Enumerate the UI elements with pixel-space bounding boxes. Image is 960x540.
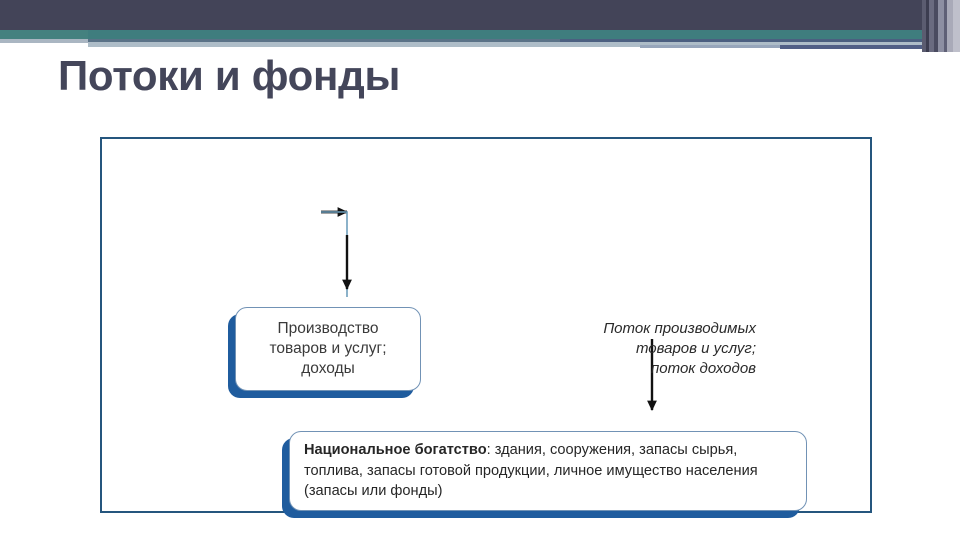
slide-header-decoration (0, 0, 960, 60)
page-title: Потоки и фонды (58, 52, 400, 100)
diagram-box-national-wealth-label: Национальное богатство: здания, сооружен… (289, 431, 807, 511)
slide-canvas: Потоки и фонды (0, 0, 960, 540)
diagram-box-national-wealth[interactable]: Национальное богатство: здания, сооружен… (289, 431, 807, 511)
header-dark-band (0, 0, 960, 30)
connector-production-to-wealth (321, 212, 358, 213)
diagram-frame: Производствотоваров и услуг;доходы Поток… (100, 137, 872, 513)
national-wealth-term: Национальное богатство (304, 442, 487, 458)
diagram-box-production-label: Производствотоваров и услуг;доходы (235, 307, 421, 391)
header-gray-band (0, 39, 88, 43)
header-teal-band-secondary (88, 30, 960, 39)
connector-rail-1 (321, 212, 347, 297)
header-accent-line-blue (560, 39, 960, 42)
header-stripe-8 (953, 0, 960, 52)
diagram-caption-flow-goods-income: Поток производимыхтоваров и услуг;поток … (506, 319, 756, 379)
diagram-box-production[interactable]: Производствотоваров и услуг;доходы (235, 307, 421, 391)
